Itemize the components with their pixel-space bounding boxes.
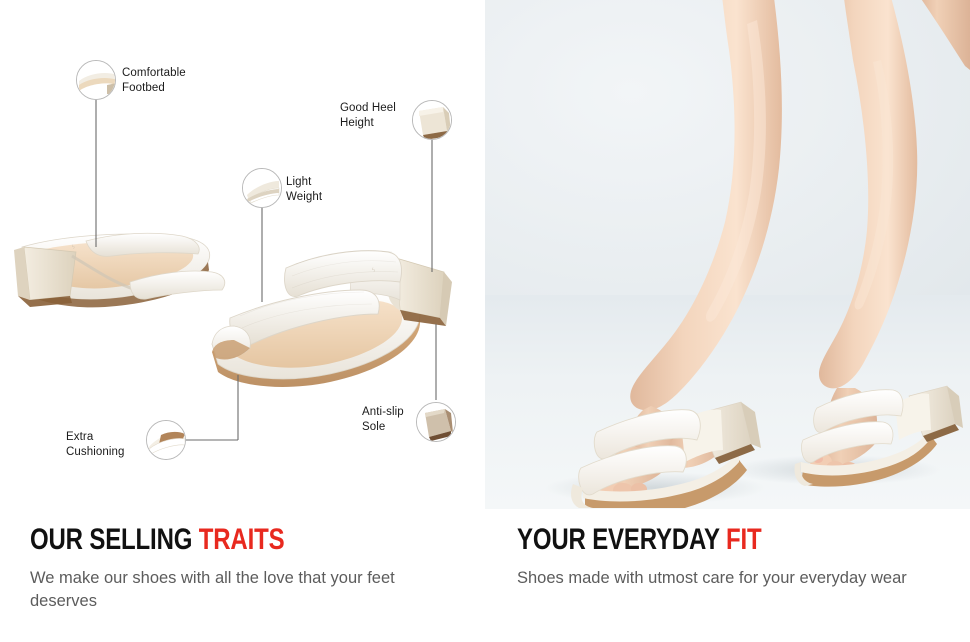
footbed-closeup-icon [76,60,116,100]
callout-label-good-heel-height: Good Heel Height [340,101,410,130]
caption-right-heading: YOUR EVERYDAY FIT [517,523,879,557]
callout-label-extra-cushioning: Extra Cushioning [66,430,146,459]
caption-right-body: Shoes made with utmost care for your eve… [517,567,927,590]
caption-left-heading-plain: OUR SELLING [30,523,199,556]
sandal-profile-closeup-icon [242,168,282,208]
caption-right-heading-accent: FIT [726,523,762,556]
right-lifestyle-panel [485,0,970,509]
panels-row: ϟ [0,0,970,509]
left-feature-panel: ϟ [0,0,485,509]
callout-label-light-weight: Light Weight [286,175,356,204]
caption-right: YOUR EVERYDAY FIT Shoes made with utmost… [485,509,970,642]
model-legs-photo [485,0,970,509]
caption-right-heading-plain: YOUR EVERYDAY [517,523,726,556]
caption-left-body: We make our shoes with all the love that… [30,567,440,613]
svg-text:ϟ: ϟ [72,245,75,251]
caption-left-heading-accent: TRAITS [199,523,285,556]
callout-label-comfortable-footbed: Comfortable Footbed [122,66,232,95]
product-marketing-banner: ϟ [0,0,970,642]
svg-text:ϟ: ϟ [372,267,375,274]
captions-row: OUR SELLING TRAITS We make our shoes wit… [0,509,970,642]
caption-left: OUR SELLING TRAITS We make our shoes wit… [0,509,485,642]
cushion-closeup-icon [146,420,186,460]
callout-label-anti-slip-sole: Anti-slip Sole [362,405,432,434]
heel-closeup-icon [412,100,452,140]
caption-left-heading: OUR SELLING TRAITS [30,523,394,557]
front-sandal: ϟ [212,251,452,387]
rear-sandal: ϟ [14,233,225,307]
